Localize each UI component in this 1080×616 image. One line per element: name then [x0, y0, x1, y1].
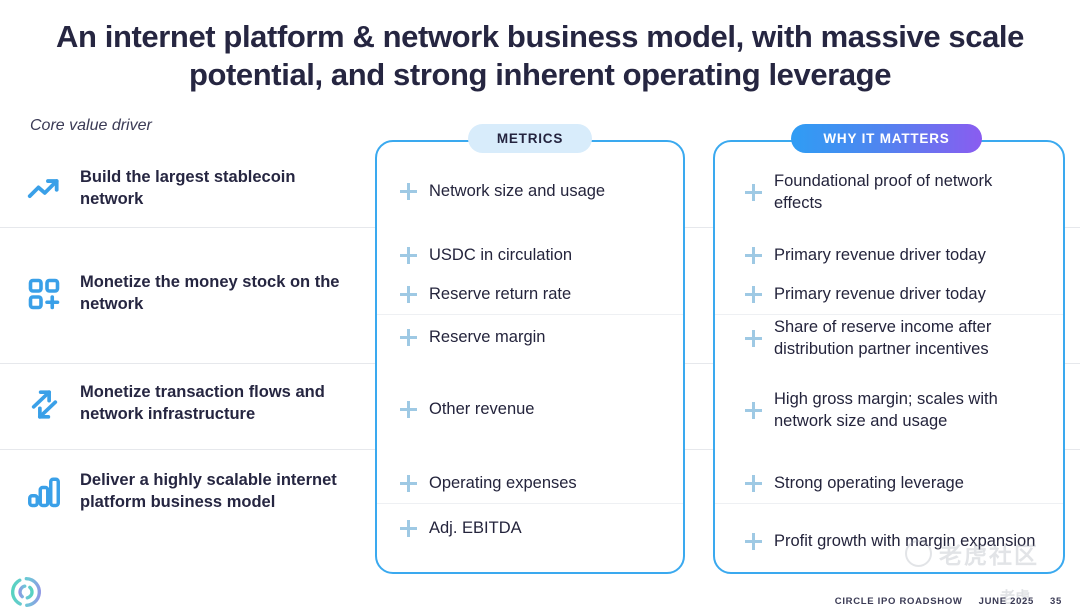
metrics-item-label: Reserve margin — [429, 326, 545, 348]
footer-date: JUNE 2025 — [979, 596, 1034, 607]
driver-label: Monetize transaction flows and network i… — [80, 382, 362, 426]
why-item: Primary revenue driver today — [745, 283, 1045, 305]
footer: CIRCLE IPO ROADSHOW JUNE 2025 35 — [835, 596, 1062, 607]
driver-label: Monetize the money stock on the network — [80, 272, 362, 316]
why-it-matters-badge: WHY IT MATTERS — [791, 124, 982, 153]
why-item-label: High gross margin; scales with network s… — [774, 388, 1045, 432]
footer-page-number: 35 — [1050, 596, 1062, 607]
circle-logo-icon — [10, 576, 42, 608]
plus-icon — [400, 329, 417, 346]
metrics-item: Reserve return rate — [400, 283, 670, 305]
driver-label: Build the largest stablecoin network — [80, 167, 362, 211]
plus-icon — [745, 184, 762, 201]
metrics-item: Network size and usage — [400, 180, 670, 202]
driver-row: Monetize transaction flows and network i… — [22, 382, 362, 426]
footer-deck-name: CIRCLE IPO ROADSHOW — [835, 596, 963, 607]
metrics-item-label: Other revenue — [429, 398, 534, 420]
why-item-label: Primary revenue driver today — [774, 244, 986, 266]
transfer-arrows-icon — [22, 382, 66, 426]
metrics-item-divider — [377, 503, 683, 504]
why-item-label: Primary revenue driver today — [774, 283, 986, 305]
why-item-label: Foundational proof of network effects — [774, 170, 1045, 214]
why-item: Strong operating leverage — [745, 472, 1045, 494]
metrics-item: Other revenue — [400, 398, 670, 420]
why-item: Profit growth with margin expansion — [745, 530, 1045, 552]
plus-icon — [400, 520, 417, 537]
metrics-item-label: USDC in circulation — [429, 244, 572, 266]
metrics-item: Adj. EBITDA — [400, 517, 670, 539]
why-item-label: Strong operating leverage — [774, 472, 964, 494]
plus-icon — [400, 183, 417, 200]
plus-icon — [745, 475, 762, 492]
trending-up-icon — [22, 167, 66, 211]
why-item-label: Share of reserve income after distributi… — [774, 316, 1050, 360]
metrics-item: Reserve margin — [400, 326, 670, 348]
plus-icon — [745, 533, 762, 550]
driver-row: Build the largest stablecoin network — [22, 167, 362, 211]
core-value-driver-label: Core value driver — [30, 117, 152, 135]
plus-icon — [400, 401, 417, 418]
plus-icon — [400, 475, 417, 492]
why-item-divider — [715, 314, 1063, 315]
plus-icon — [745, 402, 762, 419]
plus-icon — [400, 286, 417, 303]
grid-plus-icon — [22, 272, 66, 316]
driver-row: Monetize the money stock on the network — [22, 272, 362, 316]
page-title: An internet platform & network business … — [0, 18, 1080, 94]
metrics-item-label: Reserve return rate — [429, 283, 571, 305]
plus-icon — [745, 330, 762, 347]
why-item: Primary revenue driver today — [745, 244, 1045, 266]
metrics-badge: METRICS — [468, 124, 592, 153]
metrics-card — [375, 140, 685, 574]
why-item: High gross margin; scales with network s… — [745, 388, 1045, 432]
driver-row: Deliver a highly scalable internet platf… — [22, 470, 362, 514]
plus-icon — [745, 286, 762, 303]
metrics-item: Operating expenses — [400, 472, 670, 494]
driver-label: Deliver a highly scalable internet platf… — [80, 470, 362, 514]
metrics-item-label: Network size and usage — [429, 180, 605, 202]
why-item: Foundational proof of network effects — [745, 170, 1045, 214]
bar-chart-icon — [22, 470, 66, 514]
why-item: Share of reserve income after distributi… — [745, 316, 1050, 360]
why-item-divider — [715, 503, 1063, 504]
plus-icon — [400, 247, 417, 264]
why-item-label: Profit growth with margin expansion — [774, 530, 1035, 552]
metrics-item: USDC in circulation — [400, 244, 670, 266]
plus-icon — [745, 247, 762, 264]
metrics-item-label: Operating expenses — [429, 472, 577, 494]
metrics-item-divider — [377, 314, 683, 315]
metrics-item-label: Adj. EBITDA — [429, 517, 522, 539]
